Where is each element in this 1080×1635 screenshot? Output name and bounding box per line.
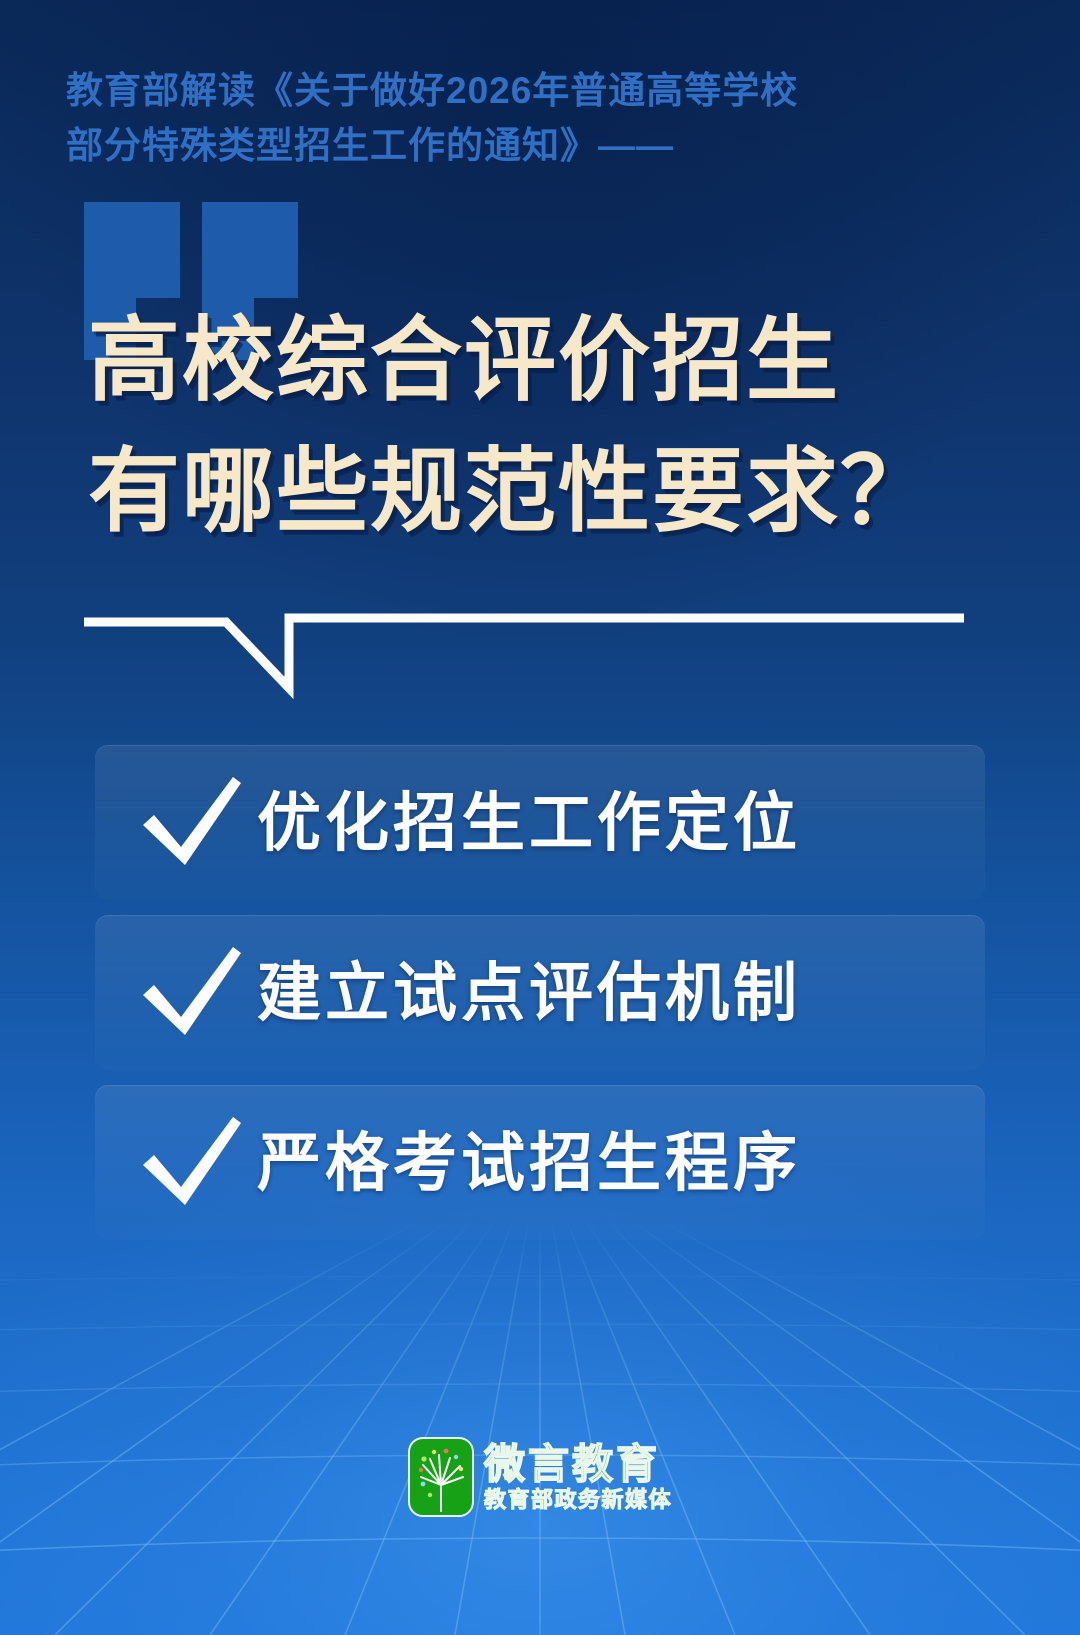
main-title: 高校综合评价招生 有哪些规范性要求？	[88, 296, 1008, 557]
brand-subtitle: 教育部政务新媒体	[484, 1488, 672, 1511]
footer-logo[interactable]: 微言教育 教育部政务新媒体	[408, 1437, 672, 1517]
poster-root: 教育部解读《关于做好2026年普通高等学校 部分特殊类型招生工作的通知》—— 高…	[0, 0, 1080, 1635]
dandelion-icon	[408, 1437, 474, 1517]
list-item-label: 建立试点评估机制	[257, 961, 801, 1025]
checklist: 优化招生工作定位 建立试点评估机制 严格考试招生程序	[95, 745, 985, 1255]
list-item-label: 严格考试招生程序	[257, 1131, 801, 1195]
brand-name: 微言教育	[484, 1443, 672, 1486]
kicker-text: 教育部解读《关于做好2026年普通高等学校 部分特殊类型招生工作的通知》——	[66, 64, 946, 174]
perspective-grid	[0, 1215, 1080, 1635]
list-item[interactable]: 严格考试招生程序	[95, 1085, 985, 1240]
check-icon	[133, 943, 251, 1043]
list-item-label: 优化招生工作定位	[257, 791, 801, 855]
title-divider	[84, 592, 964, 702]
check-icon	[133, 773, 251, 873]
list-item[interactable]: 建立试点评估机制	[95, 915, 985, 1070]
title-line-1: 高校综合评价招生	[88, 296, 1008, 427]
check-icon	[133, 1113, 251, 1213]
title-line-2: 有哪些规范性要求？	[88, 427, 1008, 558]
list-item[interactable]: 优化招生工作定位	[95, 745, 985, 900]
logo-text-block: 微言教育 教育部政务新媒体	[484, 1443, 672, 1511]
